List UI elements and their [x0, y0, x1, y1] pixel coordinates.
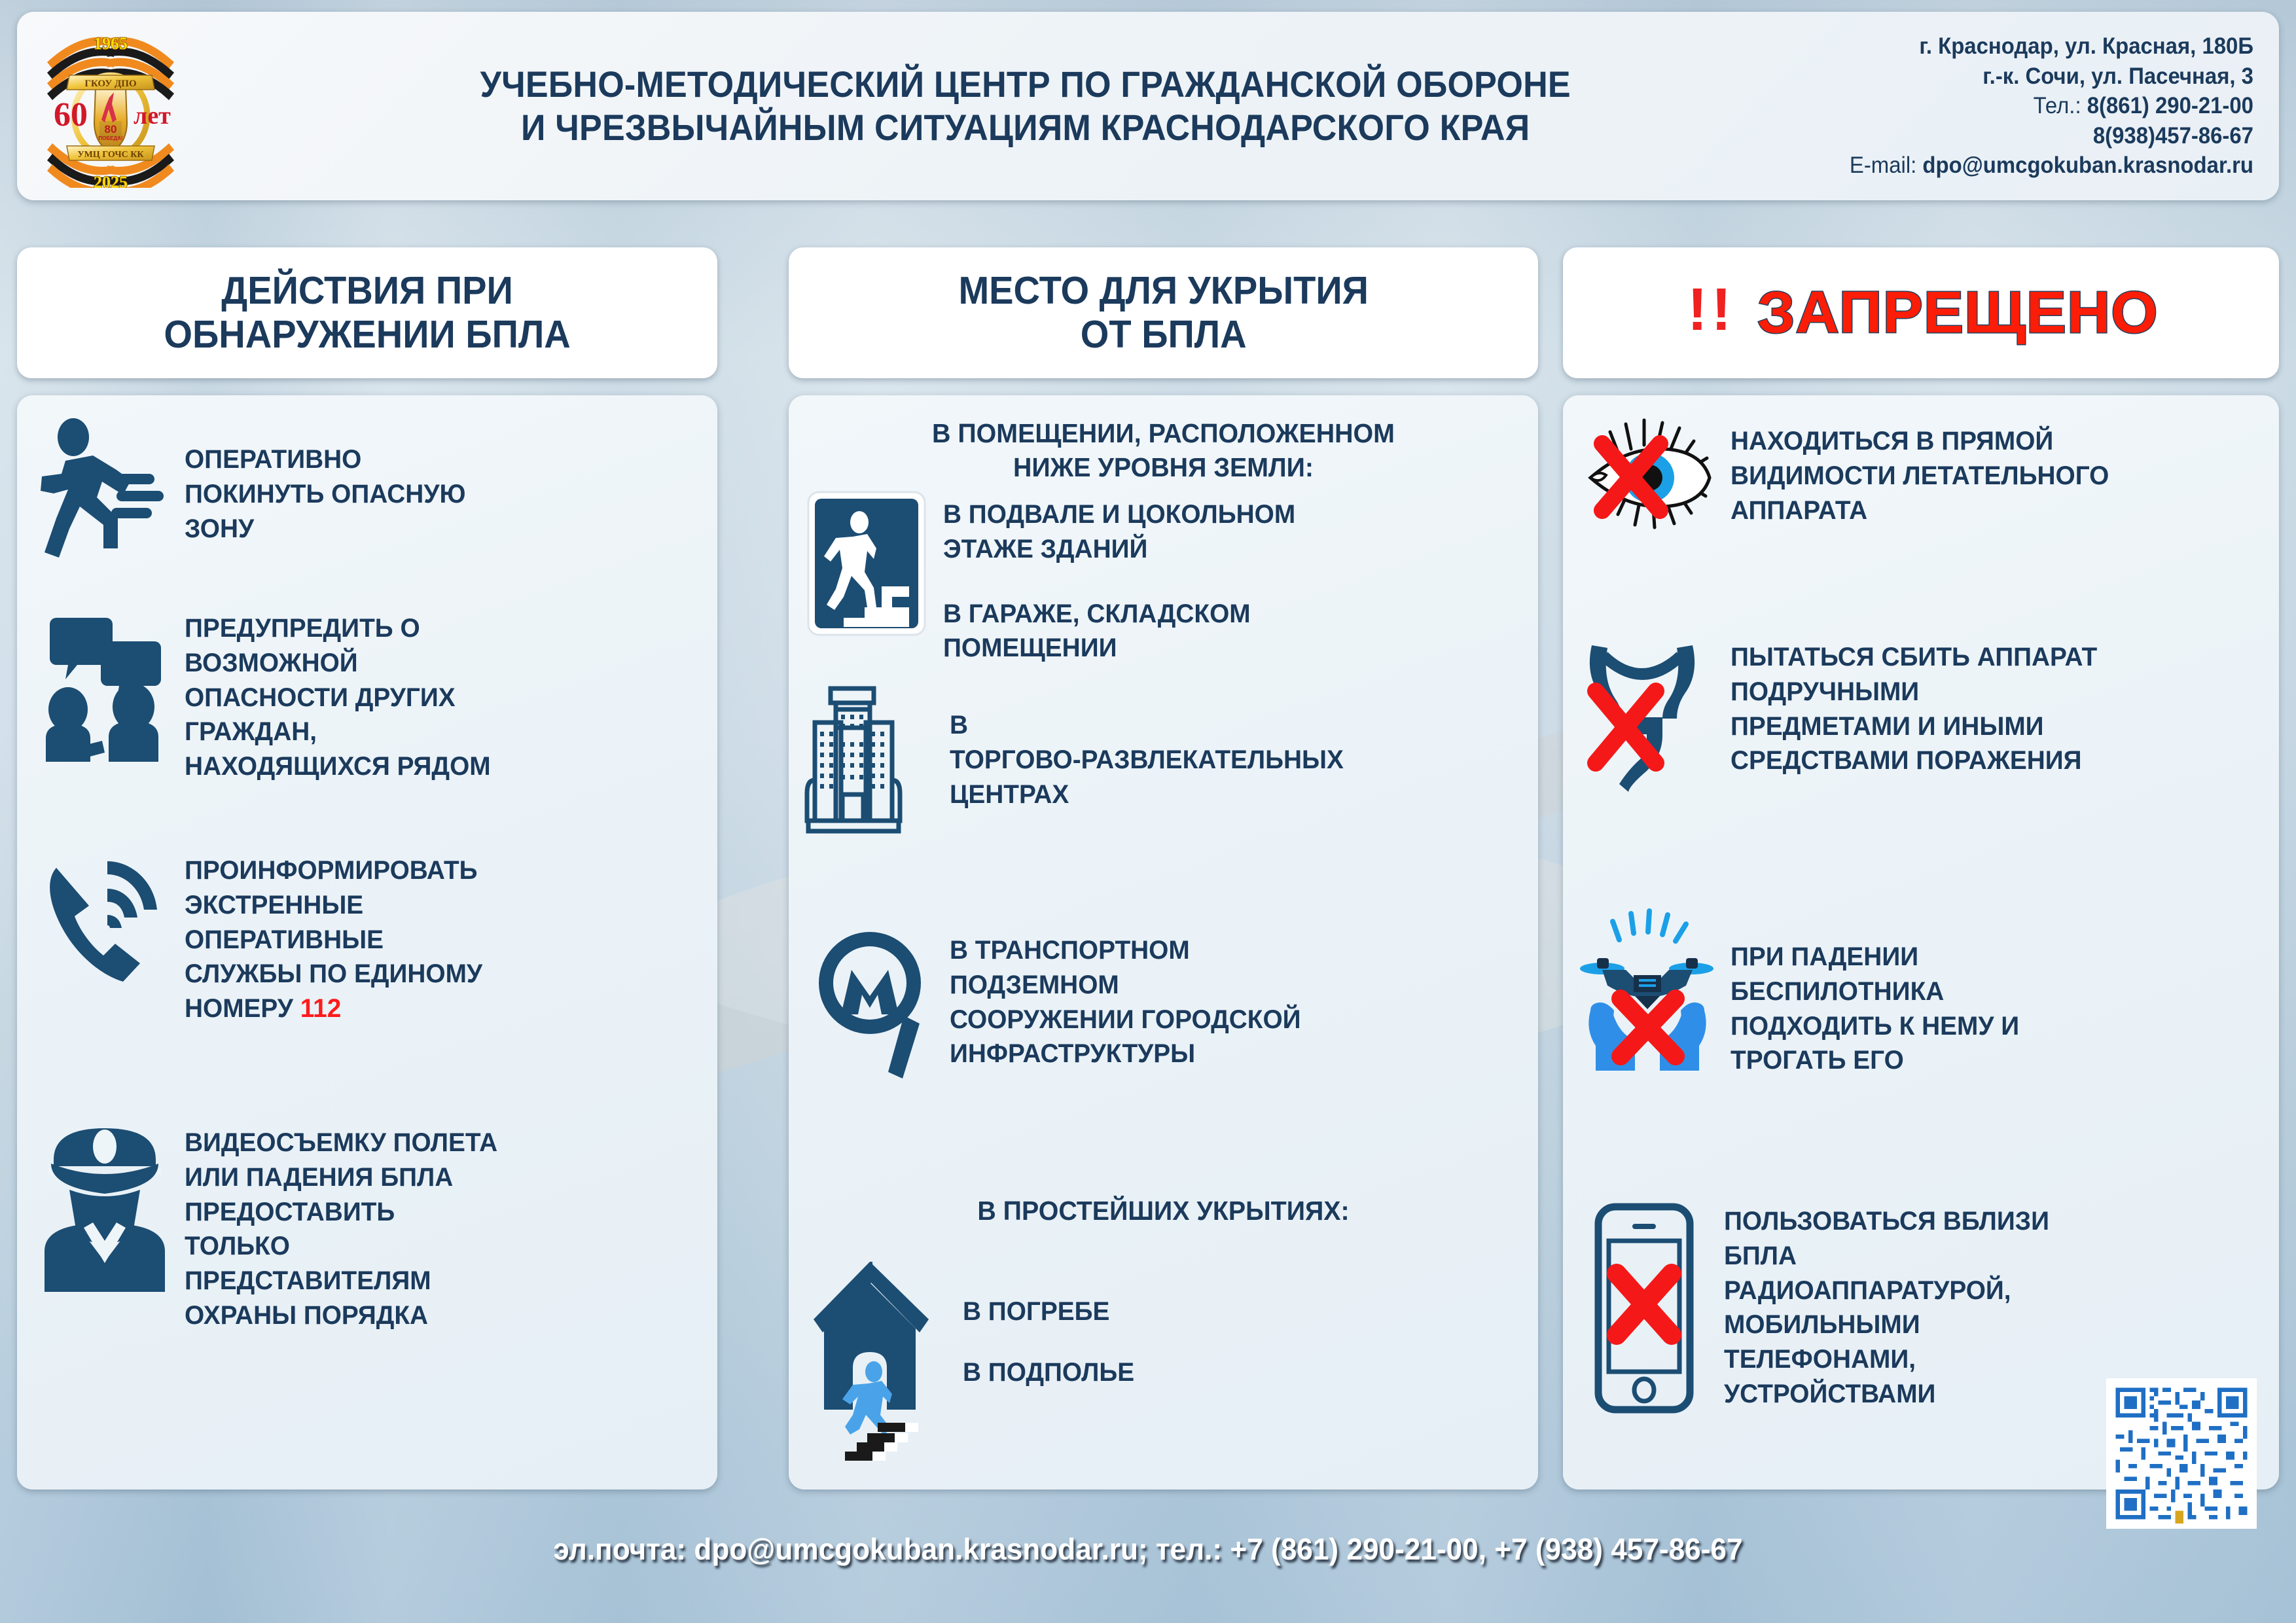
- text-line: ПОДХОДИТЬ К НЕМУ И: [1731, 1009, 2019, 1044]
- text-line: УСТРОЙСТВАМИ: [1724, 1377, 2049, 1412]
- column-title-shelter-line-1: МЕСТО ДЛЯ УКРЫТИЯ: [958, 269, 1368, 313]
- text-line: ВОЗМОЖНОЙ: [185, 646, 491, 681]
- text-line: ТОРГОВО-РАЗВЛЕКАТЕЛЬНЫХ: [950, 743, 1344, 777]
- list-item-text: В ТОРГОВО-РАЗВЛЕКАТЕЛЬНЫХ ЦЕНТРАХ: [950, 683, 1344, 811]
- text-line: ЭТАЖЕ ЗДАНИЙ: [943, 532, 1295, 567]
- text-line: НАХОДИТЬСЯ В ПРЯМОЙ: [1731, 424, 2109, 459]
- text-line: В ТРАНСПОРТНОМ: [950, 933, 1301, 968]
- column-title-actions-line-2: ОБНАРУЖЕНИИ БПЛА: [164, 313, 570, 357]
- text-line: СЛУЖБЫ ПО ЕДИНОМУ: [185, 957, 482, 991]
- list-item: В ПОДВАЛЕ И ЦОКОЛЬНОМ ЭТАЖЕ ЗДАНИЙ В ГАР…: [804, 488, 1524, 666]
- column-title-forbidden: !! ЗАПРЕЩЕНО: [1563, 247, 2279, 378]
- emblem-ribbon-top-label: ГКОУ ДПО: [84, 79, 136, 89]
- text-line: ОПЕРАТИВНО: [185, 442, 465, 477]
- text-line: БЕСПИЛОТНИКА: [1731, 974, 2019, 1009]
- text-line: ВИДЕОСЪЕМКУ ПОЛЕТА: [185, 1126, 497, 1160]
- text-line: СРЕДСТВАМИ ПОРАЖЕНИЯ: [1731, 743, 2097, 778]
- text-line: ЦЕНТРАХ: [950, 777, 1344, 812]
- contact-email-label: E-mail:: [1849, 152, 1916, 178]
- list-item-text: ВИДЕОСЪЕМКУ ПОЛЕТА ИЛИ ПАДЕНИЯ БПЛА ПРЕД…: [185, 1122, 497, 1333]
- shelter-heading-underground: В ПОМЕЩЕНИИ, РАСПОЛОЖЕННОМ НИЖЕ УРОВНЯ З…: [804, 416, 1523, 485]
- contact-phone-2: 8(938)457-86-67: [1849, 121, 2253, 151]
- list-item-text: ОПЕРАТИВНО ПОКИНУТЬ ОПАСНУЮ ЗОНУ: [185, 414, 465, 546]
- text-line: В ПОДВАЛЕ И ЦОКОЛЬНОМ: [943, 497, 1295, 532]
- text-line: ПЫТАТЬСЯ СБИТЬ АППАРАТ: [1731, 640, 2097, 675]
- contact-phone-1: 8(861) 290-21-00: [2087, 93, 2253, 118]
- text-line: РАДИОАППАРАТУРОЙ,: [1724, 1274, 2049, 1308]
- text-line: НАХОДЯЩИХСЯ РЯДОМ: [185, 749, 491, 784]
- text-line: ВИДИМОСТИ ЛЕТАТЕЛЬНОГО: [1731, 459, 2109, 493]
- list-item-text: ПРОИНФОРМИРОВАТЬ ЭКСТРЕННЫЕ ОПЕРАТИВНЫЕ …: [185, 853, 482, 1026]
- column-title-actions: ДЕЙСТВИЯ ПРИ ОБНАРУЖЕНИИ БПЛА: [17, 247, 717, 378]
- organization-emblem-icon: 1965 2025 80 ПОБЕДА! ГКОУ ДПО УМЦ ГОЧС К…: [35, 24, 186, 188]
- text-line: МОБИЛЬНЫМИ: [1724, 1308, 2049, 1342]
- page-title-line-2: И ЧРЕЗВЫЧАЙНЫМ СИТУАЦИЯМ КРАСНОДАРСКОГО …: [286, 106, 1765, 149]
- header-contact-block: г. Краснодар, ул. Красная, 180Б г.-к. Со…: [1849, 31, 2279, 181]
- page-title: УЧЕБНО-МЕТОДИЧЕСКИЙ ЦЕНТР ПО ГРАЖДАНСКОЙ…: [249, 63, 1765, 149]
- list-item: ПРИ ПАДЕНИИ БЕСПИЛОТНИКА ПОДХОДИТЬ К НЕМ…: [1579, 906, 2266, 1078]
- list-item: ВИДЕОСЪЕМКУ ПОЛЕТА ИЛИ ПАДЕНИЯ БПЛА ПРЕД…: [39, 1122, 700, 1333]
- page-title-line-1: УЧЕБНО-МЕТОДИЧЕСКИЙ ЦЕНТР ПО ГРАЖДАНСКОЙ…: [286, 63, 1765, 106]
- list-item-text: В ТРАНСПОРТНОМ ПОДЗЕМНОМ СООРУЖЕНИИ ГОРО…: [950, 919, 1301, 1071]
- text-line: ЗОНУ: [185, 512, 465, 546]
- text-line: ГРАЖДАН,: [185, 715, 491, 749]
- list-item: ПРЕДУПРЕДИТЬ О ВОЗМОЖНОЙ ОПАСНОСТИ ДРУГИ…: [39, 611, 700, 784]
- contact-email-row: E-mail: dpo@umcgokuban.krasnodar.ru: [1849, 151, 2253, 181]
- list-item: ПЫТАТЬСЯ СБИТЬ АППАРАТ ПОДРУЧНЫМИ ПРЕДМЕ…: [1579, 636, 2266, 793]
- list-item: ОПЕРАТИВНО ПОКИНУТЬ ОПАСНУЮ ЗОНУ: [39, 414, 700, 561]
- text-line: В: [950, 708, 1344, 743]
- list-item: В ПОГРЕБЕ В ПОДПОЛЬЕ: [804, 1246, 1524, 1462]
- text-line: ИЛИ ПАДЕНИЯ БПЛА: [185, 1160, 497, 1195]
- contact-address-sochi: г.-к. Сочи, ул. Пасечная, 3: [1849, 62, 2253, 92]
- text-line: В ПОДПОЛЬЕ: [963, 1355, 1134, 1390]
- panel-actions-on-detection: ОПЕРАТИВНО ПОКИНУТЬ ОПАСНУЮ ЗОНУ ПРЕДУПР…: [17, 395, 717, 1489]
- text-line: ПРЕДУПРЕДИТЬ О: [185, 611, 491, 646]
- emblem-anniversary-word: лет: [134, 102, 171, 130]
- police-officer-icon: [39, 1122, 170, 1292]
- text-line: ТЕЛЕФОНАМИ,: [1724, 1342, 2049, 1377]
- contact-email: dpo@umcgokuban.krasnodar.ru: [1922, 152, 2253, 178]
- column-title-shelter-line-2: ОТ БПЛА: [958, 313, 1368, 357]
- emblem-year-to: 2025: [94, 173, 128, 188]
- emblem-badge-pobeda: ПОБЕДА!: [98, 135, 122, 141]
- text-line: ТРОГАТЬ ЕГО: [1731, 1043, 2019, 1078]
- list-item-text: В ПОГРЕБЕ В ПОДПОЛЬЕ: [963, 1246, 1134, 1390]
- column-title-shelter: МЕСТО ДЛЯ УКРЫТИЯ ОТ БПЛА: [789, 247, 1538, 378]
- text-line: В ПОГРЕБЕ: [963, 1294, 1134, 1329]
- metro-icon: [804, 919, 935, 1082]
- qr-code[interactable]: [2106, 1378, 2257, 1529]
- text-line: ПРЕДМЕТАМИ И ИНЫМИ: [1731, 709, 2097, 744]
- text-line: БПЛА: [1724, 1239, 2049, 1274]
- house-cellar-icon: [804, 1246, 948, 1462]
- text-line: СООРУЖЕНИИ ГОРОДСКОЙ: [950, 1003, 1301, 1037]
- text-line: ПОЛЬЗОВАТЬСЯ ВБЛИЗИ: [1724, 1204, 2049, 1239]
- list-item-text: ПРЕДУПРЕДИТЬ О ВОЗМОЖНОЙ ОПАСНОСТИ ДРУГИ…: [185, 611, 491, 784]
- text-line: ОПАСНОСТИ ДРУГИХ: [185, 681, 491, 715]
- smartphone-crossed-icon: [1579, 1200, 1710, 1416]
- phone-call-icon: [39, 853, 170, 994]
- list-item-text: НАХОДИТЬСЯ В ПРЯМОЙ ВИДИМОСТИ ЛЕТАТЕЛЬНО…: [1731, 412, 2109, 527]
- contact-phone-row-1: Тел.: 8(861) 290-21-00: [1849, 91, 2253, 121]
- text-line: НИЖЕ УРОВНЯ ЗЕМЛИ:: [804, 450, 1523, 484]
- list-item: ПРОИНФОРМИРОВАТЬ ЭКСТРЕННЫЕ ОПЕРАТИВНЫЕ …: [39, 853, 700, 1026]
- text-line: ПОДРУЧНЫМИ: [1731, 675, 2097, 709]
- text-line: ИНФРАСТРУКТУРЫ: [950, 1037, 1301, 1071]
- text-line: ПРОИНФОРМИРОВАТЬ: [185, 853, 482, 888]
- text-line: В ГАРАЖЕ, СКЛАДСКОМ: [943, 597, 1295, 632]
- emblem-year-from: 1965: [94, 34, 128, 53]
- text-line: АППАРАТА: [1731, 493, 2109, 528]
- emergency-number-112: 112: [300, 994, 342, 1023]
- list-item: НАХОДИТЬСЯ В ПРЯМОЙ ВИДИМОСТИ ЛЕТАТЕЛЬНО…: [1579, 412, 2266, 537]
- text-line: ПРЕДСТАВИТЕЛЯМ: [185, 1264, 497, 1298]
- text-line-with-number: НОМЕРУ 112: [185, 991, 482, 1026]
- slingshot-crossed-icon: [1579, 636, 1716, 793]
- emblem-ribbon-bottom-label: УМЦ ГОЧС КК: [77, 150, 144, 160]
- text-line: ПРЕДОСТАВИТЬ: [185, 1195, 497, 1230]
- stairs-down-sign-icon: [804, 488, 929, 639]
- text-line: НОМЕРУ: [185, 994, 300, 1023]
- drone-in-hands-crossed-icon: [1579, 906, 1716, 1076]
- emblem-anniversary-number: 60: [54, 96, 88, 134]
- column-title-actions-line-1: ДЕЙСТВИЯ ПРИ: [164, 269, 570, 313]
- text-line: В ПОМЕЩЕНИИ, РАСПОЛОЖЕННОМ: [804, 416, 1523, 450]
- text-line: ОХРАНЫ ПОРЯДКА: [185, 1298, 497, 1333]
- shelter-heading-simple: В ПРОСТЕЙШИХ УКРЫТИЯХ:: [804, 1194, 1523, 1228]
- emblem-badge-80: 80: [105, 123, 117, 135]
- footer-contact-line: эл.почта: dpo@umcgokuban.krasnodar.ru; т…: [46, 1531, 2250, 1567]
- text-line: ПРИ ПАДЕНИИ: [1731, 940, 2019, 974]
- text-line: ТОЛЬКО: [185, 1229, 497, 1264]
- header-bar: 1965 2025 80 ПОБЕДА! ГКОУ ДПО УМЦ ГОЧС К…: [17, 12, 2279, 200]
- mall-building-icon: [804, 683, 935, 834]
- list-item-text: ПОЛЬЗОВАТЬСЯ ВБЛИЗИ БПЛА РАДИОАППАРАТУРО…: [1724, 1200, 2049, 1412]
- contact-address-krasnodar: г. Краснодар, ул. Красная, 180Б: [1849, 31, 2253, 62]
- eye-crossed-icon: [1579, 412, 1716, 537]
- text-line: ОПЕРАТИВНЫЕ: [185, 923, 482, 957]
- exclamation-marks-icon: !!: [1687, 286, 1735, 334]
- text-line: ПОДЗЕМНОМ: [950, 968, 1301, 1003]
- list-item: В ТОРГОВО-РАЗВЛЕКАТЕЛЬНЫХ ЦЕНТРАХ: [804, 683, 1524, 834]
- text-line: ПОКИНУТЬ ОПАСНУЮ: [185, 477, 465, 512]
- list-item-text: В ПОДВАЛЕ И ЦОКОЛЬНОМ ЭТАЖЕ ЗДАНИЙ В ГАР…: [943, 488, 1295, 666]
- text-line: ПОМЕЩЕНИИ: [943, 631, 1295, 666]
- list-item: В ТРАНСПОРТНОМ ПОДЗЕМНОМ СООРУЖЕНИИ ГОРО…: [804, 919, 1524, 1082]
- column-title-forbidden-word: ЗАПРЕЩЕНО: [1757, 279, 2159, 347]
- text-line: ЭКСТРЕННЫЕ: [185, 888, 482, 923]
- list-item-text: ПЫТАТЬСЯ СБИТЬ АППАРАТ ПОДРУЧНЫМИ ПРЕДМЕ…: [1731, 636, 2097, 778]
- people-talking-icon: [39, 611, 170, 762]
- list-item-text: ПРИ ПАДЕНИИ БЕСПИЛОТНИКА ПОДХОДИТЬ К НЕМ…: [1731, 906, 2019, 1078]
- panel-shelter-places: В ПОМЕЩЕНИИ, РАСПОЛОЖЕННОМ НИЖЕ УРОВНЯ З…: [789, 395, 1538, 1489]
- panel-prohibitions: НАХОДИТЬСЯ В ПРЯМОЙ ВИДИМОСТИ ЛЕТАТЕЛЬНО…: [1563, 395, 2279, 1489]
- contact-phone-label: Тел.:: [2033, 93, 2081, 118]
- running-person-icon: [39, 414, 170, 561]
